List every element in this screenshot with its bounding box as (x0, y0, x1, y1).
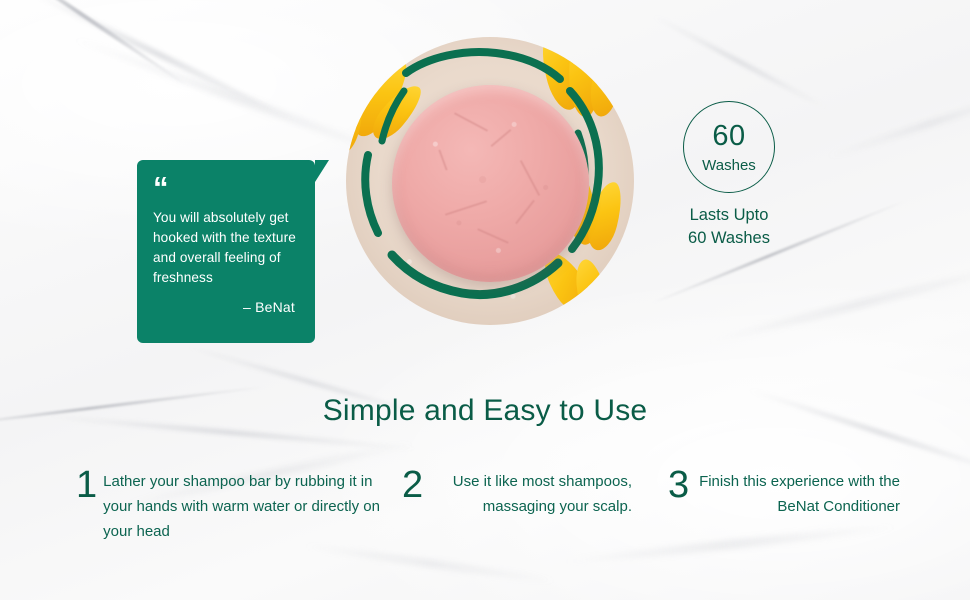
shampoo-bar (392, 85, 589, 282)
step-number: 1 (76, 469, 97, 501)
section-headline: Simple and Easy to Use (0, 394, 970, 428)
step-item: 3 Finish this experience with the BeNat … (668, 469, 900, 519)
quote-card-tail (315, 160, 329, 182)
step-text: Finish this experience with the BeNat Co… (695, 469, 900, 519)
marble-vein (704, 261, 970, 346)
step-number: 2 (402, 469, 423, 501)
product-photo (346, 37, 634, 325)
step-text: Lather your shampoo bar by rubbing it in… (103, 469, 396, 544)
washes-badge-caption: Lasts Upto 60 Washes (630, 204, 828, 250)
washes-badge-number: 60 (712, 122, 745, 151)
shampoo-bar-texture (392, 85, 589, 282)
steps-list: 1 Lather your shampoo bar by rubbing it … (0, 467, 970, 557)
marble-vein (824, 86, 970, 161)
step-item: 2 Use it like most shampoos, massaging y… (402, 469, 632, 519)
quote-author: – BeNat (153, 299, 301, 315)
washes-caption-line-2: 60 Washes (630, 227, 828, 250)
quote-mark-icon: “ (153, 176, 301, 200)
infographic-root: “ You will absolutely get hooked with th… (0, 0, 970, 600)
washes-badge: 60 Washes (683, 101, 775, 193)
marble-vein (651, 13, 829, 110)
step-text: Use it like most shampoos, massaging you… (429, 469, 632, 519)
quote-card: “ You will absolutely get hooked with th… (137, 160, 315, 343)
quote-text: You will absolutely get hooked with the … (153, 208, 301, 288)
washes-badge-unit: Washes (702, 158, 756, 173)
step-item: 1 Lather your shampoo bar by rubbing it … (76, 469, 396, 544)
step-number: 3 (668, 469, 689, 501)
washes-caption-line-1: Lasts Upto (630, 204, 828, 227)
